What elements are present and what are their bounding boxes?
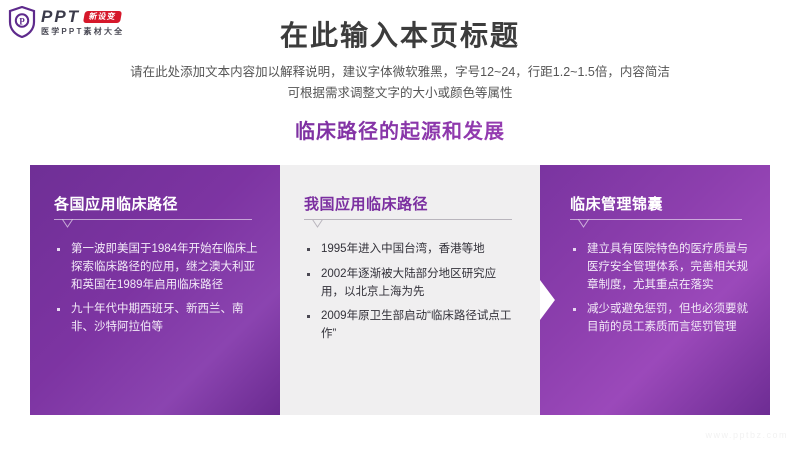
panel-heading: 各国应用临床路径 — [54, 193, 258, 214]
list-item: 第一波即美国于1984年开始在临床上探索临床路径的应用，继之澳大利亚和英国在19… — [54, 241, 258, 294]
site-watermark: www.pptbz.com — [705, 430, 788, 440]
panel-bullet-list: 第一波即美国于1984年开始在临床上探索临床路径的应用，继之澳大利亚和英国在19… — [54, 241, 258, 337]
slide: P PPT 新设变 医学PPT素材大全 在此输入本页标题 请在此处添加文本内容加… — [0, 0, 800, 450]
panel-china-clinical-pathway[interactable]: 我国应用临床路径 1995年进入中国台湾，香港等地 2002年逐渐被大陆部分地区… — [280, 165, 540, 415]
panel-bullet-list: 1995年进入中国台湾，香港等地 2002年逐渐被大陆部分地区研究应用，以北京上… — [304, 241, 518, 344]
panel-band: 各国应用临床路径 第一波即美国于1984年开始在临床上探索临床路径的应用，继之澳… — [30, 165, 770, 415]
heading-rule — [54, 219, 258, 231]
panel-heading: 临床管理锦囊 — [570, 193, 748, 214]
page-title: 在此输入本页标题 — [0, 14, 800, 54]
page-subtitle: 请在此处添加文本内容加以解释说明，建议字体微软雅黑，字号12~24，行距1.2~… — [60, 62, 740, 103]
chevron-down-icon — [312, 219, 323, 228]
panel-heading: 我国应用临床路径 — [304, 193, 518, 214]
panel-bullet-list: 建立具有医院特色的医疗质量与医疗安全管理体系，完善相关规章制度，尤其重点在落实 … — [570, 241, 748, 337]
list-item: 建立具有医院特色的医疗质量与医疗安全管理体系，完善相关规章制度，尤其重点在落实 — [570, 241, 748, 294]
list-item: 九十年代中期西班牙、新西兰、南非、沙特阿拉伯等 — [54, 301, 258, 337]
chevron-down-icon — [62, 219, 73, 228]
section-heading: 临床路径的起源和发展 — [0, 115, 800, 144]
panel-clinical-management-tips[interactable]: 临床管理锦囊 建立具有医院特色的医疗质量与医疗安全管理体系，完善相关规章制度，尤… — [540, 165, 770, 415]
list-item: 2009年原卫生部启动“临床路径试点工作” — [304, 308, 518, 344]
subtitle-line-2: 可根据需求调整文字的大小或颜色等属性 — [60, 83, 740, 104]
heading-rule — [304, 219, 518, 231]
list-item: 2002年逐渐被大陆部分地区研究应用，以北京上海为先 — [304, 266, 518, 302]
list-item: 1995年进入中国台湾，香港等地 — [304, 241, 518, 259]
panel-global-clinical-pathway[interactable]: 各国应用临床路径 第一波即美国于1984年开始在临床上探索临床路径的应用，继之澳… — [30, 165, 280, 415]
chevron-down-icon — [578, 219, 589, 228]
heading-rule — [570, 219, 748, 231]
list-item: 减少或避免惩罚，但也必须要就目前的员工素质而言惩罚管理 — [570, 301, 748, 337]
subtitle-line-1: 请在此处添加文本内容加以解释说明，建议字体微软雅黑，字号12~24，行距1.2~… — [60, 62, 740, 83]
